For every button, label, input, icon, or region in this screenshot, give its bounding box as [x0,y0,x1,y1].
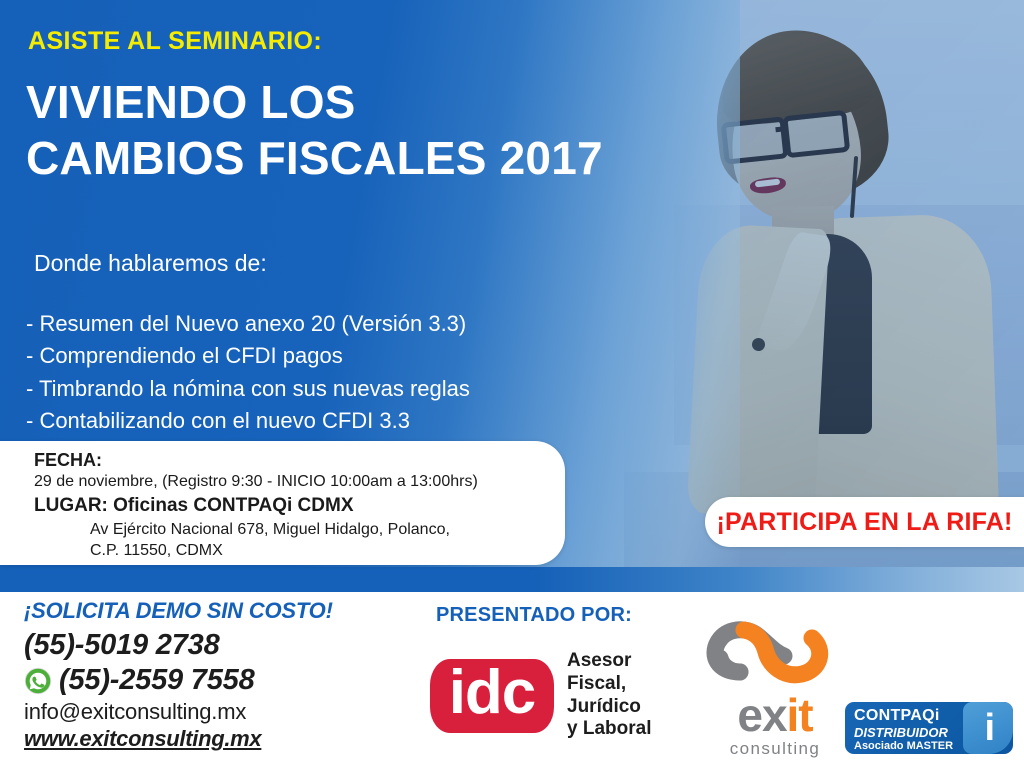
hero-section: ASISTE AL SEMINARIO: VIVIENDO LOS CAMBIO… [0,0,1024,592]
contpaqi-i-icon: i [984,709,995,747]
demo-cta-text: ¡SOLICITA DEMO SIN COSTO! [24,598,333,624]
title-line-1: VIVIENDO LOS [26,74,603,130]
raffle-badge: ¡PARTICIPA EN LA RIFA! [705,497,1024,547]
address-line-1: Av Ejército Nacional 678, Miguel Hidalgo… [34,519,565,540]
idc-logo-mark: idc [430,659,554,733]
list-item: - Resumen del Nuevo anexo 20 (Versión 3.… [26,308,470,340]
contpaqi-line-2: DISTRIBUIDOR [854,725,953,741]
date-value: 29 de noviembre, (Registro 9:30 - INICIO… [34,471,565,493]
exit-word-orange: it [787,689,813,741]
idc-tagline-line-1: Asesor [567,650,651,673]
whatsapp-icon [24,667,52,695]
lead-text: Donde hablaremos de: [34,250,267,277]
venue-line: LUGAR: Oficinas CONTPAQi CDMX [34,493,565,519]
event-details-card: FECHA: 29 de noviembre, (Registro 9:30 -… [0,441,565,565]
website-link[interactable]: www.exitconsulting.mx [24,726,333,752]
blue-divider-strip [0,567,1024,592]
exit-word-gray: ex [737,689,786,741]
kicker-text: ASISTE AL SEMINARIO: [28,27,322,56]
interlocking-loops-icon [700,616,850,694]
contpaqi-badge: i CONTPAQi DISTRIBUIDOR Asociado MASTER [845,702,1013,754]
idc-tagline-line-4: y Laboral [567,718,651,741]
email-address[interactable]: info@exitconsulting.mx [24,699,333,725]
address-line-2: C.P. 11550, CDMX [34,540,565,561]
title-line-2: CAMBIOS FISCALES 2017 [26,130,603,186]
contpaqi-line-3: Asociado MASTER [854,740,953,753]
seminar-flyer: ASISTE AL SEMINARIO: VIVIENDO LOS CAMBIO… [0,0,1024,768]
topics-list: - Resumen del Nuevo anexo 20 (Versión 3.… [26,308,470,437]
idc-tagline: Asesor Fiscal, Jurídico y Laboral [567,650,651,741]
date-label: FECHA: [34,450,565,471]
page-title: VIVIENDO LOS CAMBIOS FISCALES 2017 [26,74,603,186]
phone-whatsapp-row[interactable]: (55)-2559 7558 [24,664,333,697]
contact-block: ¡SOLICITA DEMO SIN COSTO! (55)-5019 2738… [24,598,333,752]
contpaqi-line-1: CONTPAQi [854,708,953,725]
list-item: - Contabilizando con el nuevo CFDI 3.3 [26,405,470,437]
idc-logo: idc Asesor Fiscal, Jurídico y Laboral [430,650,651,741]
idc-tagline-line-2: Fiscal, [567,673,651,696]
list-item: - Timbrando la nómina con sus nuevas reg… [26,373,470,405]
presented-by-label: PRESENTADO POR: [436,604,632,627]
exit-wordmark: exit [700,692,850,738]
contpaqi-badge-text: CONTPAQi DISTRIBUIDOR Asociado MASTER [854,708,953,754]
exit-subtitle: consulting [700,739,850,759]
list-item: - Comprendiendo el CFDI pagos [26,340,470,372]
exit-consulting-logo: exit consulting [700,616,850,759]
phone-primary[interactable]: (55)-5019 2738 [24,629,333,662]
phone-whatsapp[interactable]: (55)-2559 7558 [59,664,255,697]
idc-tagline-line-3: Jurídico [567,696,651,719]
raffle-label: ¡PARTICIPA EN LA RIFA! [716,508,1012,537]
